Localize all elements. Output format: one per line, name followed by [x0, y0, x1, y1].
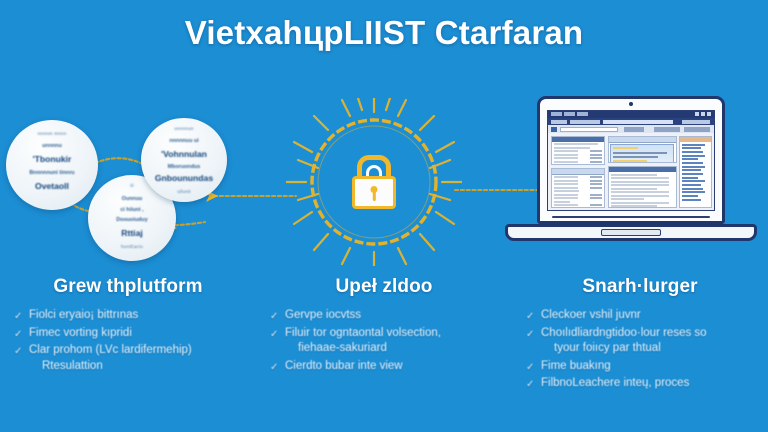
main-panel-column [608, 136, 677, 208]
sidebar-link-list[interactable] [680, 142, 710, 203]
browser-address-bar[interactable] [548, 118, 714, 125]
highlight-box [610, 144, 674, 163]
list-item-continuation: Rtesulattion [29, 359, 242, 375]
highlight-card-header [609, 137, 676, 143]
check-mark-icon: ✓ [526, 309, 534, 325]
bubble-b-line-5: Rttiaj [88, 228, 176, 238]
laptop-trackpad [601, 229, 661, 236]
list-item-text: Filuir tor ogntaontal volsection, [285, 327, 441, 339]
highlight-card[interactable] [608, 136, 677, 164]
benefit-column-2-title: Upeł zldoo [270, 276, 498, 298]
list-item: ✓Filuir tor ogntaontal volsection,fiehaa… [270, 326, 498, 357]
benefit-column-3: Snarh·lurger ✓Cleckoer vshil juvnr ✓Choı… [512, 272, 768, 432]
list-item-text: Choılıdliardngtidoo·lour reses so [541, 327, 707, 339]
bubble-c-line-2: nnnnnuu ui [141, 138, 227, 144]
properties-card[interactable] [551, 168, 606, 208]
check-mark-icon: ✓ [526, 360, 534, 376]
list-item-text: Cierdto bubar inte view [285, 360, 403, 372]
list-item: ✓Choılıdliardngtidoo·lour reses sotyour … [526, 326, 754, 357]
bubble-c-line-1: unnnnun [141, 126, 227, 131]
left-panel-column [551, 136, 606, 208]
list-item-text: FilbnoLeachere inteų, proces [541, 377, 689, 389]
padlock-keyhole [371, 186, 378, 193]
bubble-a-line-4: Bnnnnnuni tinnru [6, 170, 98, 176]
webcam-icon [629, 102, 633, 106]
sidebar-links-card[interactable] [679, 136, 711, 208]
bubble-node-c[interactable]: unnnnun nnnnnuu ui 'Vohnnulan Mboruondus… [141, 118, 227, 202]
bubble-c-line-5: Gnbounundas [141, 173, 227, 183]
browser-tabs[interactable] [551, 112, 588, 116]
list-item: ✓FilbnoLeachere inteų, proces [526, 376, 754, 392]
laptop-base [505, 224, 757, 241]
bubble-b-line-6: huniEaciu [88, 244, 176, 249]
list-item-continuation: tyour foiıcy par thtual [541, 341, 754, 357]
list-item-text: Clar prohom (LVc lardifermehip) [29, 344, 192, 356]
benefit-column-1-list: ✓Fiolci eryaio¡ bittrınas ✓Fimec vorting… [14, 308, 242, 374]
bubble-b-line-3: ci hiiuni , [88, 207, 176, 213]
laptop-hinge-bar [552, 216, 710, 218]
laptop-lid [537, 96, 725, 224]
list-item: ✓Fimec vorting kıpridi [14, 326, 242, 342]
security-burst-group [286, 98, 462, 266]
benefit-column-2-list: ✓Gervpe iocvtss ✓Filuir tor ogntaontal v… [270, 308, 498, 374]
check-mark-icon: ✓ [526, 327, 534, 343]
bubble-a-line-1: nnnnm mnnn [6, 131, 98, 136]
page-content [548, 133, 714, 210]
check-mark-icon: ✓ [14, 344, 22, 360]
details-card[interactable] [551, 136, 606, 166]
check-mark-icon: ✓ [270, 309, 278, 325]
padlock-body [352, 176, 396, 209]
bubble-b-line-4: Doouoiuduy [88, 217, 176, 223]
check-mark-icon: ✓ [270, 360, 278, 376]
benefit-column-1-title: Grew thplutform [14, 276, 242, 298]
bubble-c-line-4: Mboruondus [141, 164, 227, 170]
benefit-columns: Grew thplutform ✓Fiolci eryaio¡ bittrına… [0, 272, 768, 432]
bubble-a-line-5: Ovetaoll [6, 181, 98, 191]
padlock-icon [352, 155, 396, 209]
benefit-column-3-list: ✓Cleckoer vshil juvnr ✓Choılıdliardngtid… [526, 308, 754, 392]
list-item-text: Cleckoer vshil juvnr [541, 309, 641, 321]
bubble-c-line-6: ullunit [141, 189, 227, 194]
list-item: ✓Fime buakıng [526, 359, 754, 375]
check-mark-icon: ✓ [526, 377, 534, 393]
list-item-text: Fimec vorting kıpridi [29, 327, 132, 339]
list-item: ✓Gervpe iocvtss [270, 308, 498, 324]
list-item: ✓Fiolci eryaio¡ bittrınas [14, 308, 242, 324]
list-item: ✓Cleckoer vshil juvnr [526, 308, 754, 324]
laptop-illustration [505, 96, 757, 252]
list-item: ✓Clar prohom (LVc lardifermehip)Rtesulat… [14, 343, 242, 374]
list-item-text: Fiolci eryaio¡ bittrınas [29, 309, 138, 321]
right-sidebar-column [679, 136, 711, 208]
list-item-continuation: fiehaae-sakuriard [285, 341, 498, 357]
check-mark-icon: ✓ [270, 327, 278, 343]
bubble-a-line-2: unnnnu [6, 143, 98, 149]
bubble-node-a[interactable]: nnnnm mnnn unnnnu 'Tbonukir Bnnnnnuni ti… [6, 120, 98, 210]
benefit-column-2: Upeł zldoo ✓Gervpe iocvtss ✓Filuir tor o… [256, 272, 512, 432]
browser-title-bar [548, 111, 714, 118]
infographic-canvas: VietxahцpLIIST Ctarfaran nnnnm mnnn unnn… [0, 0, 768, 432]
window-controls[interactable] [695, 112, 711, 116]
list-item-text: Gervpe iocvtss [285, 309, 361, 321]
check-mark-icon: ✓ [14, 327, 22, 343]
check-mark-icon: ✓ [14, 309, 22, 325]
bubble-a-line-3: 'Tbonukir [6, 154, 98, 164]
bubble-c-line-3: 'Vohnnulan [141, 149, 227, 159]
list-item-text: Fime buakıng [541, 360, 611, 372]
laptop-screen[interactable] [547, 110, 715, 211]
list-item: ✓Cierdto bubar inte view [270, 359, 498, 375]
article-card[interactable] [608, 166, 677, 208]
benefit-column-1: Grew thplutform ✓Fiolci eryaio¡ bittrına… [0, 272, 256, 432]
benefit-column-3-title: Snarh·lurger [526, 276, 754, 298]
